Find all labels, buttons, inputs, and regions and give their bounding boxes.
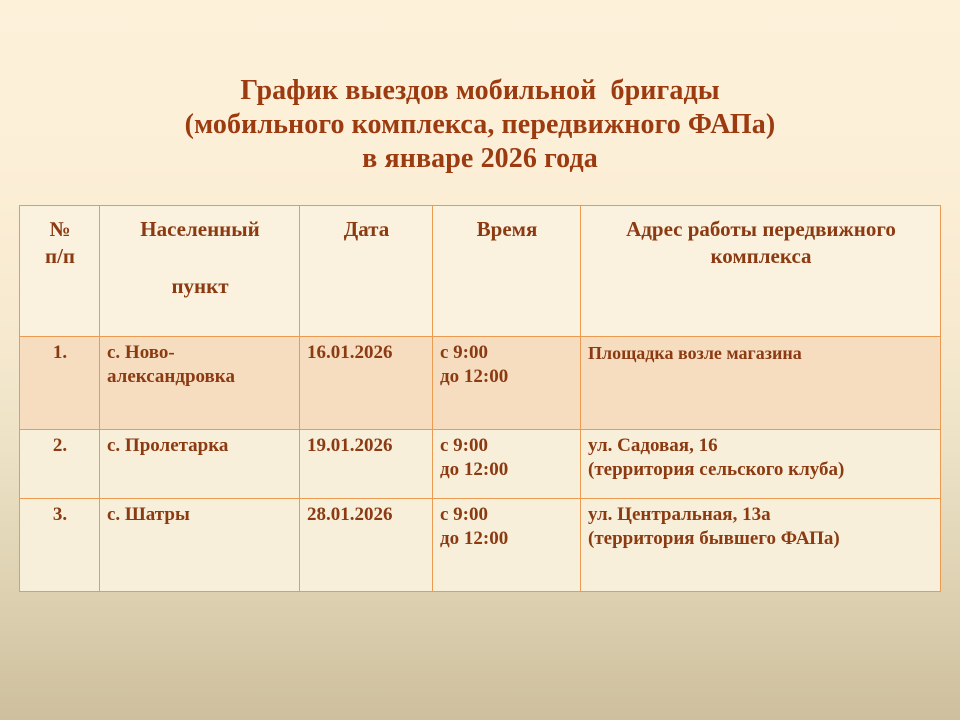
column-header-settlement-line-1: Населенный xyxy=(107,216,293,243)
cell-date: 28.01.2026 xyxy=(300,499,433,592)
cell-address-line-2: (территория бывшего ФАПа) xyxy=(588,527,934,551)
table-header-row: № п/п Населенный пункт Дата Время Адрес … xyxy=(20,206,941,337)
column-header-settlement: Населенный пункт xyxy=(100,206,300,337)
table-row: 2. с. Пролетарка 19.01.2026 с 9:00 до 12… xyxy=(20,430,941,499)
table-row: 1. с. Ново- александровка 16.01.2026 с 9… xyxy=(20,337,941,430)
cell-time-line-1: с 9:00 xyxy=(440,503,574,527)
cell-address: Площадка возле магазина xyxy=(581,337,941,430)
cell-settlement: с. Пролетарка xyxy=(100,430,300,499)
column-header-settlement-line-2: пункт xyxy=(107,273,293,300)
cell-time-line-1: с 9:00 xyxy=(440,341,574,365)
slide-root: График выездов мобильной бригады (мобиль… xyxy=(0,0,960,720)
column-header-address: Адрес работы передвижного комплекса xyxy=(581,206,941,337)
cell-time: с 9:00 до 12:00 xyxy=(433,499,581,592)
page-title-line-1: График выездов мобильной бригады xyxy=(0,74,960,108)
schedule-table: № п/п Населенный пункт Дата Время Адрес … xyxy=(19,205,941,592)
table-row: 3. с. Шатры 28.01.2026 с 9:00 до 12:00 у… xyxy=(20,499,941,592)
cell-settlement-line-2: александровка xyxy=(107,365,293,389)
cell-address-line-1: ул. Садовая, 16 xyxy=(588,434,934,458)
cell-number: 1. xyxy=(20,337,100,430)
column-header-number-line-2: п/п xyxy=(27,243,93,270)
cell-address-line-1: Площадка возле магазина xyxy=(588,341,934,365)
cell-settlement-line-1: с. Ново- xyxy=(107,341,293,365)
cell-time-line-2: до 12:00 xyxy=(440,458,574,482)
cell-settlement-line-1: с. Шатры xyxy=(107,503,293,527)
column-header-number-line-1: № xyxy=(27,216,93,243)
page-title-line-3: в январе 2026 года xyxy=(0,142,960,176)
schedule-table-wrapper: № п/п Населенный пункт Дата Время Адрес … xyxy=(19,205,940,592)
page-title-line-2: (мобильного комплекса, передвижного ФАПа… xyxy=(0,108,960,142)
cell-time-line-2: до 12:00 xyxy=(440,365,574,389)
column-header-address-line-1: Адрес работы передвижного xyxy=(588,216,934,243)
cell-number: 3. xyxy=(20,499,100,592)
cell-address-line-2: (территория сельского клуба) xyxy=(588,458,934,482)
cell-settlement-line-1: с. Пролетарка xyxy=(107,434,293,458)
cell-settlement: с. Шатры xyxy=(100,499,300,592)
cell-date: 16.01.2026 xyxy=(300,337,433,430)
column-header-time: Время xyxy=(433,206,581,337)
cell-number: 2. xyxy=(20,430,100,499)
page-title: График выездов мобильной бригады (мобиль… xyxy=(0,74,960,176)
column-header-date: Дата xyxy=(300,206,433,337)
cell-time-line-2: до 12:00 xyxy=(440,527,574,551)
cell-time-line-1: с 9:00 xyxy=(440,434,574,458)
cell-date: 19.01.2026 xyxy=(300,430,433,499)
cell-address: ул. Садовая, 16 (территория сельского кл… xyxy=(581,430,941,499)
column-header-address-line-2: комплекса xyxy=(588,243,934,270)
cell-settlement: с. Ново- александровка xyxy=(100,337,300,430)
cell-time: с 9:00 до 12:00 xyxy=(433,430,581,499)
column-header-number: № п/п xyxy=(20,206,100,337)
cell-address-line-1: ул. Центральная, 13а xyxy=(588,503,934,527)
cell-address: ул. Центральная, 13а (территория бывшего… xyxy=(581,499,941,592)
cell-time: с 9:00 до 12:00 xyxy=(433,337,581,430)
column-header-settlement-spacer xyxy=(107,243,293,273)
